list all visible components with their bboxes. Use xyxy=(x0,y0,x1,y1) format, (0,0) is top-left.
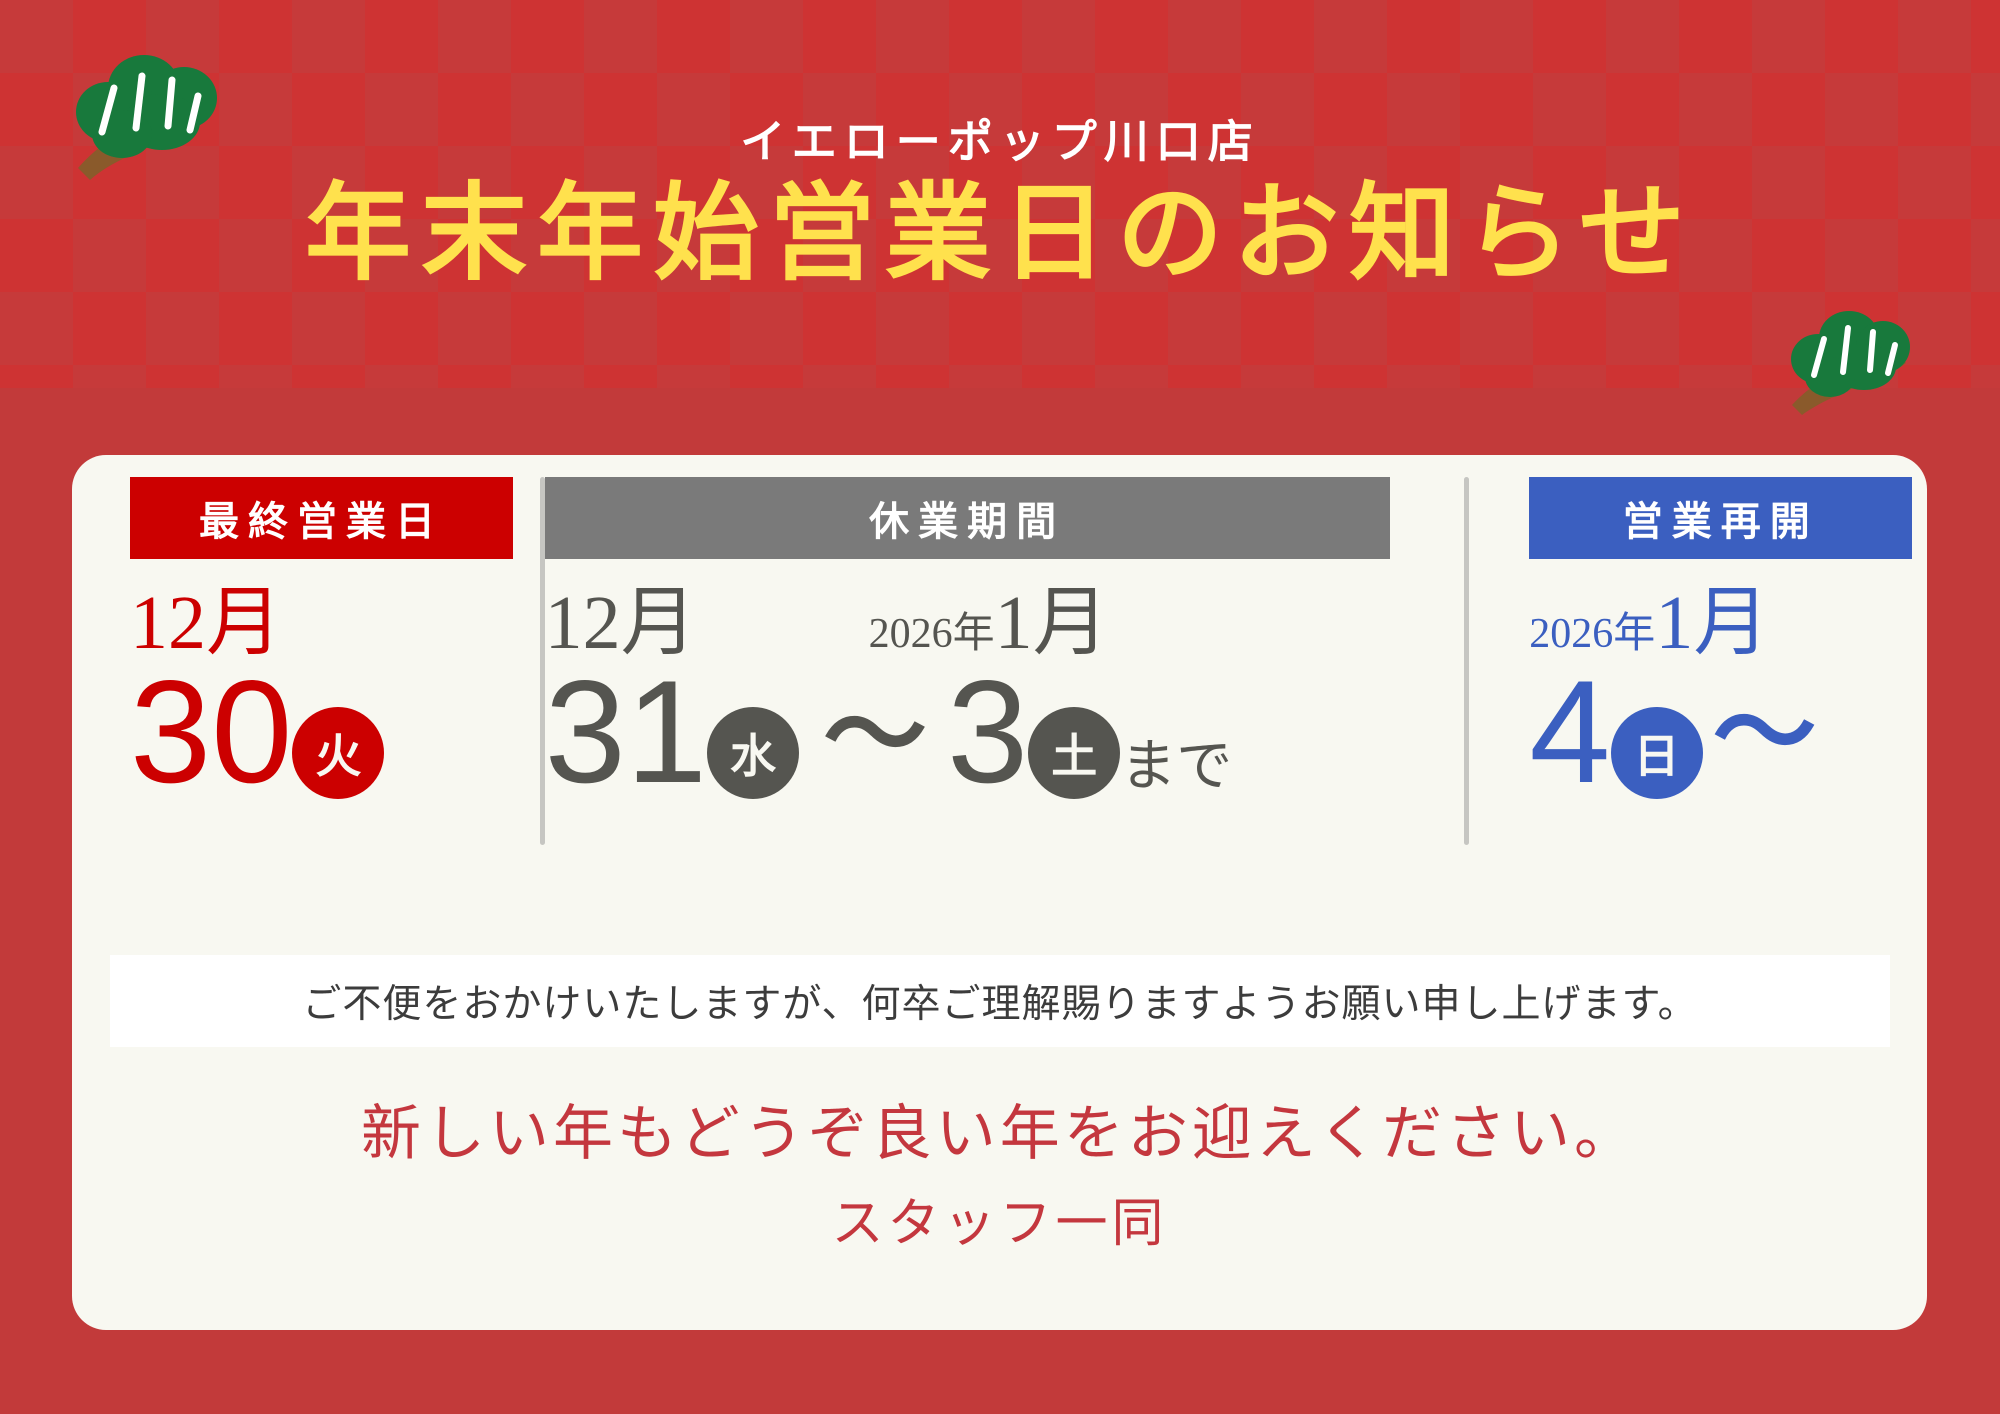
closed-end-day: 3 xyxy=(947,665,1028,799)
poster-header: イエローポップ川口店 年末年始営業日のお知らせ xyxy=(0,0,2000,390)
reopen-number-row: 4 日 〜 xyxy=(1529,665,1927,799)
closed-end-weekday-badge: 土 xyxy=(1028,707,1120,799)
reopen-day: 4 xyxy=(1529,665,1610,799)
pine-branch-icon xyxy=(1780,305,1930,417)
last-day-number: 30 xyxy=(130,665,292,799)
store-name: イエローポップ川口店 xyxy=(0,105,2000,170)
closed-start-weekday-badge: 水 xyxy=(707,707,799,799)
reopen-suffix-tilde: 〜 xyxy=(1713,681,1817,785)
apology-strip: ご不便をおかけいたしますが、何卒ご理解賜りますようお願い申し上げます。 xyxy=(110,955,1890,1047)
last-day-number-row: 30 火 xyxy=(130,665,540,799)
date-columns: 最終営業日 12月 30 火 休業期間 12月 2026年 1月 xyxy=(72,455,1927,885)
closing-line-2: スタッフ一同 xyxy=(72,1181,1927,1256)
badge-closed-period: 休業期間 xyxy=(545,477,1390,559)
notice-card: 最終営業日 12月 30 火 休業期間 12月 2026年 1月 xyxy=(72,455,1927,1330)
column-reopen: 営業再開 2026年 1月 4 日 〜 xyxy=(1469,455,1927,799)
badge-last-business-day: 最終営業日 xyxy=(130,477,513,559)
poster-canvas: イエローポップ川口店 年末年始営業日のお知らせ 最終営業日 xyxy=(0,0,2000,1414)
pine-branch-icon xyxy=(62,48,242,183)
column-last-business-day: 最終営業日 12月 30 火 xyxy=(72,455,540,799)
last-day-weekday-badge: 火 xyxy=(292,707,384,799)
closed-start-day: 31 xyxy=(545,665,707,799)
range-tilde: 〜 xyxy=(823,683,927,787)
reopen-month: 1月 xyxy=(1655,585,1769,661)
reopen-weekday-badge: 日 xyxy=(1611,707,1703,799)
apology-text: ご不便をおかけいたしますが、何卒ご理解賜りますようお願い申し上げます。 xyxy=(302,973,1697,1029)
page-title: 年末年始営業日のお知らせ xyxy=(0,178,2000,289)
closed-number-row: 31 水 〜 3 土 まで xyxy=(545,665,1465,799)
badge-reopen: 営業再開 xyxy=(1529,477,1912,559)
column-closed-period: 休業期間 12月 2026年 1月 31 水 〜 3 土 まで xyxy=(545,455,1465,799)
closing-line-1: 新しい年もどうぞ良い年をお迎えください。 xyxy=(72,1085,1927,1172)
closed-suffix-made: まで xyxy=(1120,739,1232,799)
